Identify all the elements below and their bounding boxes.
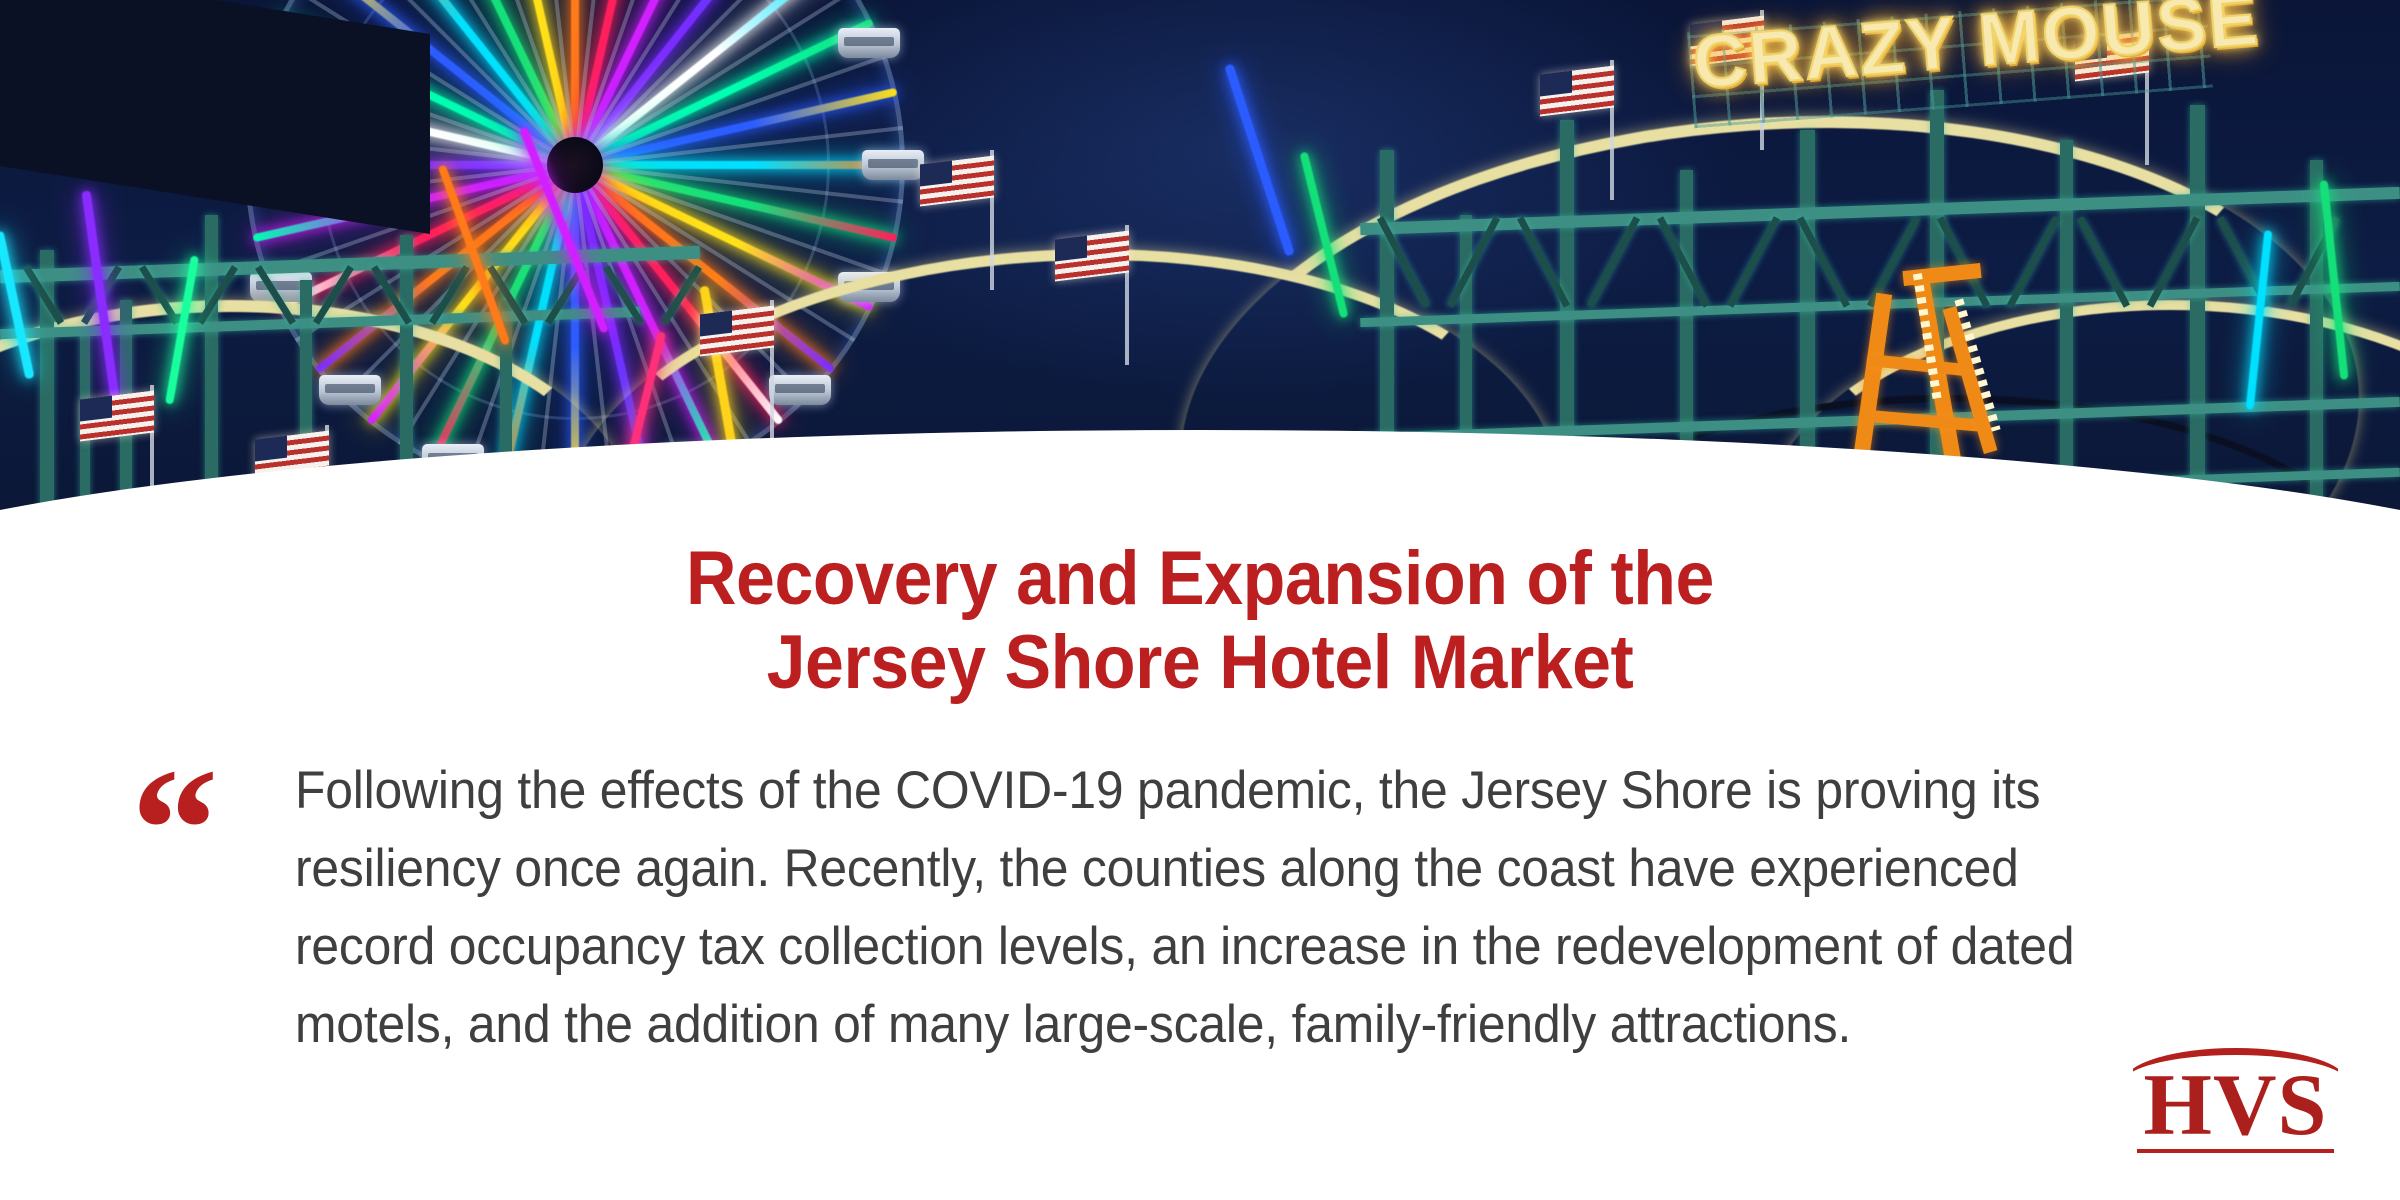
quote-text: Following the effects of the COVID-19 pa… xyxy=(295,752,2166,1064)
banner-content: Recovery and Expansion of the Jersey Sho… xyxy=(0,0,2400,1200)
page-title-line-1: Recovery and Expansion of the xyxy=(686,536,1714,621)
page-title-line-2: Jersey Shore Hotel Market xyxy=(96,621,2304,705)
article-hero-banner: CRAZY MOUSE Recovery and Expansion of th… xyxy=(0,0,2400,1200)
hvs-logo[interactable]: HVS xyxy=(2133,1046,2338,1161)
page-title: Recovery and Expansion of the Jersey Sho… xyxy=(96,537,2304,705)
quote-mark-icon: “ xyxy=(131,742,219,917)
logo-underline-rule xyxy=(2137,1149,2334,1153)
logo-wordmark: HVS xyxy=(2133,1062,2338,1150)
